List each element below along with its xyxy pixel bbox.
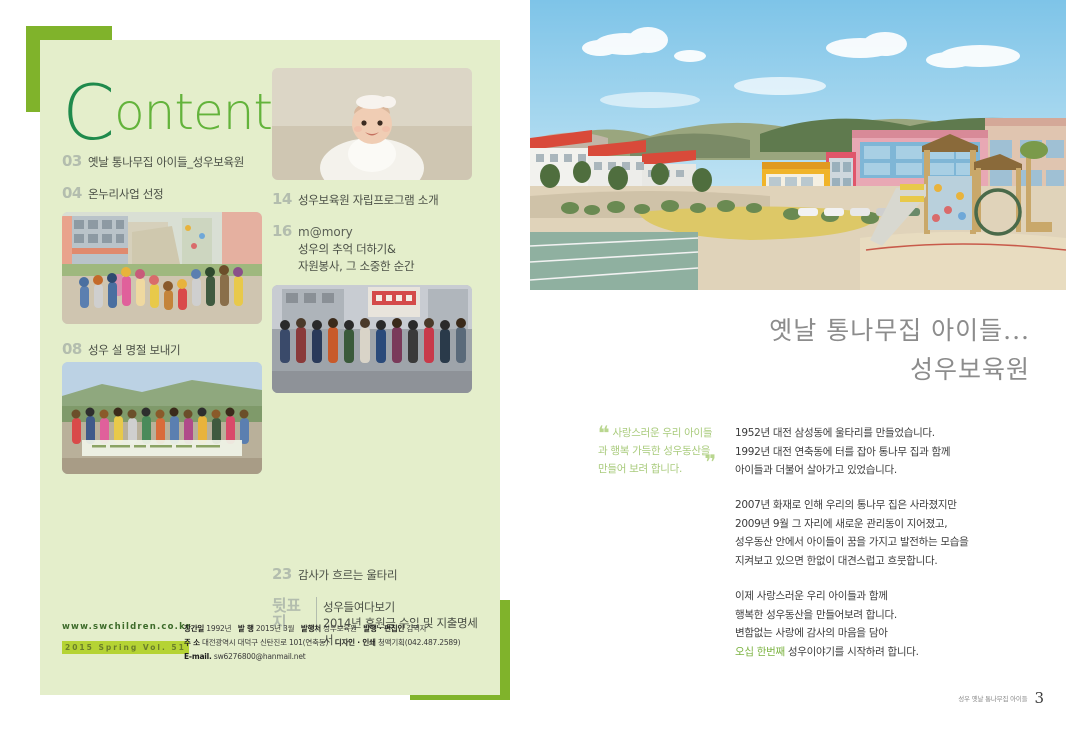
- colophon: www.swchildren.co.kr 2015 Spring Vol. 51…: [62, 622, 482, 654]
- colophon-address-label: 주 소: [184, 638, 200, 647]
- p2-line2: 2009년 9월 그 자리에 새로운 관리동이 지어졌고,: [735, 518, 947, 530]
- colophon-details: 창간일 1992년 발 행 2015년 3월 발행처 성우보육원 발행 · 편집…: [184, 622, 484, 664]
- photo-seongwoo-campus-playground: [530, 0, 1066, 290]
- toc-label-memory: m@mory: [298, 225, 353, 239]
- toc-item-03[interactable]: 03 옛날 통나무집 아이들_성우보육원: [62, 152, 262, 171]
- photo-baby-white-dress-image: [272, 68, 472, 180]
- paragraph-1: 1952년 대전 삼성동에 울타리를 만들었습니다. 1992년 대전 연축동에…: [735, 424, 1045, 480]
- colophon-printer-value: 청맥기획(042.487.2589): [378, 638, 460, 647]
- title-initial: C: [62, 68, 114, 157]
- colophon-publisher-value: 성우보육원: [323, 624, 357, 633]
- p1-line1: 1952년 대전 삼성동에 울타리를 만들었습니다.: [735, 427, 935, 439]
- toc-label: 옛날 통나무집 아이들_성우보육원: [88, 154, 244, 171]
- p2-line3: 성우동산 안에서 아이들이 꿈을 가지고 발전하는 모습을: [735, 536, 969, 548]
- article-heading-line1: 옛날 통나무집 아이들...: [610, 312, 1030, 351]
- colophon-email-value[interactable]: sw6276800@hanmail.net: [214, 652, 306, 661]
- colophon-founded-label: 창간일: [184, 624, 204, 633]
- toc-item-08[interactable]: 08 성우 설 명절 보내기: [62, 340, 262, 359]
- footer-label: 성우 옛날 통나무집 아이들: [958, 693, 1027, 703]
- p3-line2: 행복한 성우동산을 만들어보려 합니다.: [735, 609, 897, 621]
- toc-number: 23: [272, 565, 298, 583]
- colophon-email-label: E-mail.: [184, 652, 212, 661]
- toc-number: 04: [62, 184, 88, 202]
- photo-children-outing-banner-image: [62, 362, 262, 474]
- colophon-line-email: E-mail. sw6276800@hanmail.net: [184, 650, 484, 664]
- toc-number: 16: [272, 222, 298, 240]
- photo-children-playground-group: [62, 212, 262, 324]
- colophon-volume-badge: 2015 Spring Vol. 51: [62, 641, 189, 654]
- page-footer: 성우 옛날 통나무집 아이들 3: [958, 689, 1044, 707]
- colophon-line-publication: 창간일 1992년 발 행 2015년 3월 발행처 성우보육원 발행 · 편집…: [184, 622, 484, 636]
- colophon-issue-value: 2015년 3월: [256, 624, 294, 633]
- article-heading-line2: 성우보육원: [610, 351, 1030, 390]
- p3-highlight: 오십 한번째: [735, 646, 785, 658]
- toc-item-23[interactable]: 23 감사가 흐르는 울타리: [272, 565, 480, 584]
- left-page: Contents.. 03 옛날 통나무집 아이들_성우보육원 04 온누리사업…: [0, 0, 530, 729]
- toc-label: 성우 설 명절 보내기: [88, 342, 180, 359]
- toc-label: 온누리사업 선정: [88, 186, 163, 203]
- toc-number: 14: [272, 190, 298, 208]
- colophon-address-value: 대전광역시 대덕구 신탄진로 101(연축동): [202, 638, 328, 647]
- toc-item-16[interactable]: 16 m@mory 성우의 추억 더하기& 자원봉사, 그 소중한 순간: [272, 222, 480, 275]
- toc-item-14[interactable]: 14 성우보육원 자립프로그램 소개: [272, 190, 480, 209]
- photo-baby-white-dress: [272, 68, 472, 180]
- toc-label: m@mory 성우의 추억 더하기& 자원봉사, 그 소중한 순간: [298, 224, 414, 275]
- photo-volunteers-winter-group-image: [272, 285, 472, 393]
- toc-number: 03: [62, 152, 88, 170]
- photo-children-outing-banner: [62, 362, 262, 474]
- p3-line4-rest: 성우이야기를 시작하려 합니다.: [785, 646, 919, 658]
- toc-label: 성우보육원 자립프로그램 소개: [298, 192, 438, 209]
- pull-quote-text: 사랑스러운 우리 아이들과 행복 가득한 성우동산을 만들어 보려 합니다.: [598, 427, 712, 475]
- toc-column-right-mid: 14 성우보육원 자립프로그램 소개 16 m@mory 성우의 추억 더하기&…: [272, 190, 480, 287]
- toc-item-04[interactable]: 04 온누리사업 선정: [62, 184, 262, 203]
- quote-open-mark: ❝: [598, 421, 609, 445]
- p2-line4: 지켜보고 있으면 한없이 대견스럽고 흐뭇합니다.: [735, 555, 937, 567]
- p3-line3: 변함없는 사랑에 감사의 마음을 담아: [735, 627, 888, 639]
- contents-panel: Contents.. 03 옛날 통나무집 아이들_성우보육원 04 온누리사업…: [40, 40, 500, 695]
- p3-line1: 이제 사랑스러운 우리 아이들과 함께: [735, 590, 888, 602]
- toc-label-line2: 성우의 추억 더하기&: [298, 241, 414, 258]
- colophon-line-address: 주 소 대전광역시 대덕구 신탄진로 101(연축동) 디자인 · 인쇄 청맥기…: [184, 636, 484, 650]
- photo-seongwoo-campus-playground-image: [530, 0, 1066, 290]
- paragraph-3: 이제 사랑스러운 우리 아이들과 함께 행복한 성우동산을 만들어보려 합니다.…: [735, 587, 1045, 662]
- p1-line3: 아이들과 더불어 살아가고 있었습니다.: [735, 464, 897, 476]
- frame-accent-top-horizontal: [26, 26, 112, 40]
- page-number: 3: [1034, 689, 1044, 707]
- photo-children-playground-group-image: [62, 212, 262, 324]
- colophon-founded-value: 1992년: [206, 624, 231, 633]
- p2-line1: 2007년 화재로 인해 우리의 통나무 집은 사라졌지만: [735, 499, 957, 511]
- p1-line2: 1992년 대전 연축동에 터를 잡아 통나무 집과 함께: [735, 446, 950, 458]
- colophon-editor-label: 발행 · 편집인: [363, 624, 404, 633]
- article-heading: 옛날 통나무집 아이들... 성우보육원: [610, 312, 1030, 390]
- toc-label: 감사가 흐르는 울타리: [298, 567, 397, 584]
- toc-label-line1: 성우들여다보기: [323, 599, 480, 616]
- toc-number: 08: [62, 340, 88, 358]
- right-page: 옛날 통나무집 아이들... 성우보육원 ❝ 사랑스러운 우리 아이들과 행복 …: [530, 0, 1066, 729]
- article-body: 1952년 대전 삼성동에 울타리를 만들었습니다. 1992년 대전 연축동에…: [735, 424, 1045, 678]
- pull-quote: ❝ 사랑스러운 우리 아이들과 행복 가득한 성우동산을 만들어 보려 합니다.…: [598, 424, 716, 478]
- colophon-printer-label: 디자인 · 인쇄: [335, 638, 376, 647]
- colophon-publisher-label: 발행처: [301, 624, 321, 633]
- toc-label-line3: 자원봉사, 그 소중한 순간: [298, 258, 414, 275]
- colophon-issue-label: 발 행: [238, 624, 254, 633]
- photo-volunteers-winter-group: [272, 285, 472, 393]
- colophon-editor-value: 김익자: [406, 624, 426, 633]
- paragraph-2: 2007년 화재로 인해 우리의 통나무 집은 사라졌지만 2009년 9월 그…: [735, 496, 1045, 571]
